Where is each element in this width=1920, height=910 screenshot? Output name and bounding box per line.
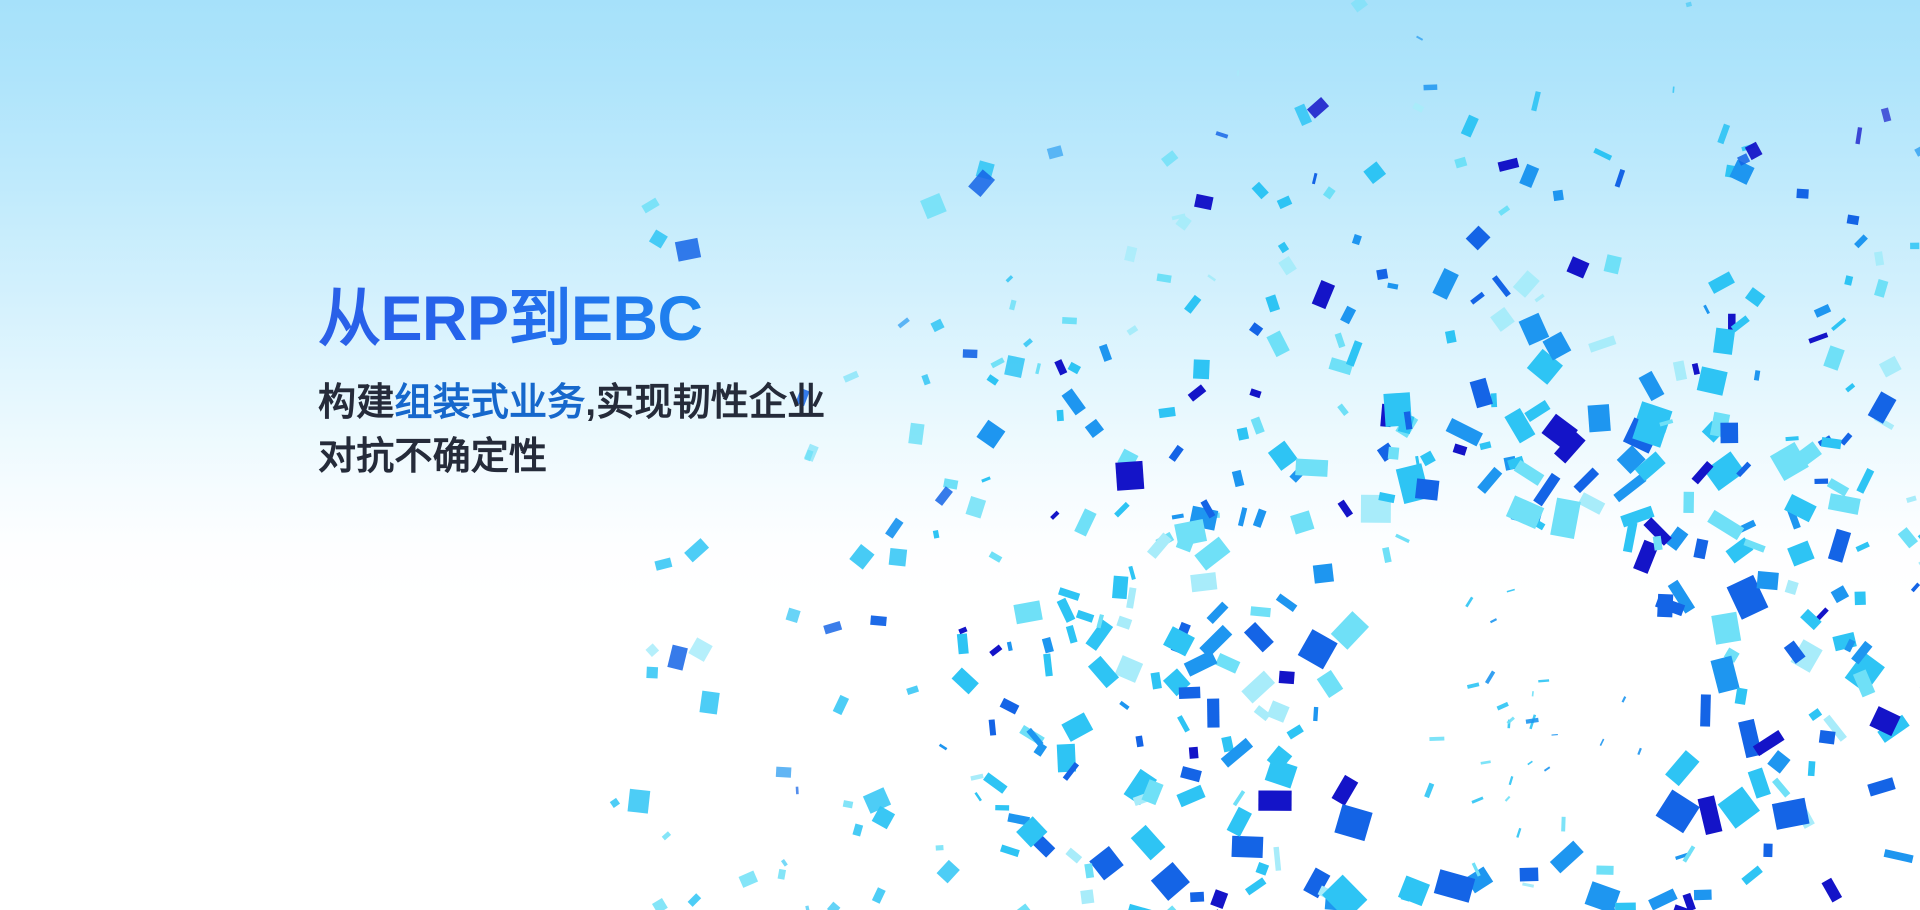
subheadline-accent: 组装式业务 [394,382,585,424]
hero-banner: 从ERP到EBC 构建组装式业务,实现韧性企业 对抗不确定性 [0,0,1920,910]
page-title: 从ERP到EBC [318,286,1078,353]
subheadline-line-2: 对抗不确定性 [318,431,1078,485]
subheadline-suffix: ,实现韧性企业 [585,382,825,424]
hero-copy-block: 从ERP到EBC 构建组装式业务,实现韧性企业 对抗不确定性 [318,286,1078,485]
subheadline-prefix: 构建 [318,382,394,424]
subheadline-line-1: 构建组装式业务,实现韧性企业 [318,377,1078,431]
hero-subheadline: 构建组装式业务,实现韧性企业 对抗不确定性 [318,353,1078,485]
